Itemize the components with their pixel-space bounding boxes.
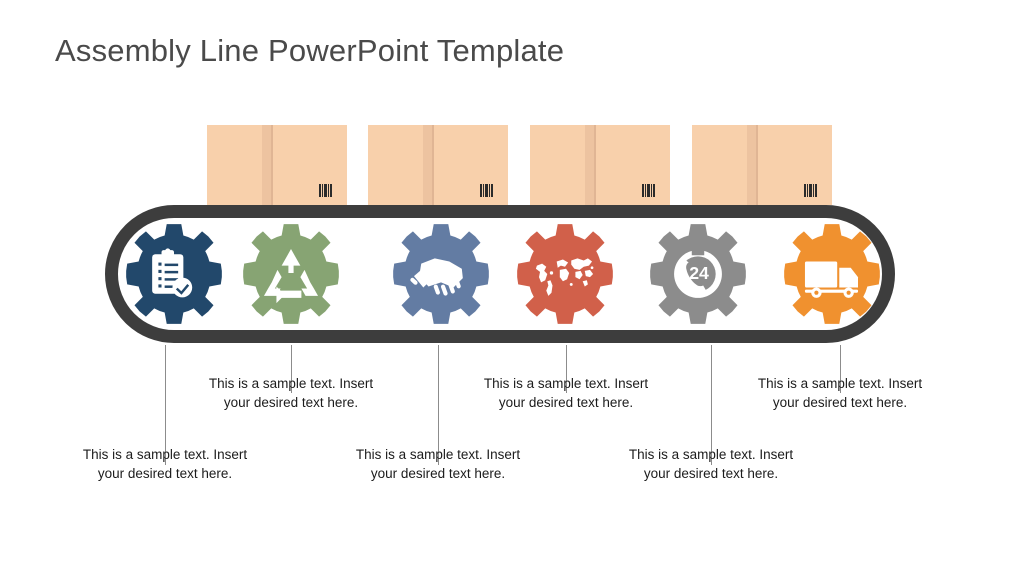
gear-shape xyxy=(243,224,339,324)
gear-step-2[interactable] xyxy=(239,222,343,326)
caption-step-4: This is a sample text. Insert your desir… xyxy=(471,374,661,412)
caption-step-2: This is a sample text. Insert your desir… xyxy=(196,374,386,412)
slide-canvas: Assembly Line PowerPoint Template xyxy=(0,0,1024,576)
gears-group: 24 xyxy=(0,0,1024,576)
gear-step-5[interactable]: 24 xyxy=(646,222,750,326)
caption-step-3: This is a sample text. Insert your desir… xyxy=(343,445,533,483)
caption-step-5: This is a sample text. Insert your desir… xyxy=(616,445,806,483)
gear-step-3[interactable] xyxy=(389,222,493,326)
gear-step-4[interactable] xyxy=(513,222,617,326)
svg-text:24: 24 xyxy=(689,263,709,283)
caption-step-6: This is a sample text. Insert your desir… xyxy=(745,374,935,412)
gear-step-1[interactable] xyxy=(122,222,226,326)
gear-step-6[interactable] xyxy=(780,222,884,326)
caption-step-1: This is a sample text. Insert your desir… xyxy=(70,445,260,483)
